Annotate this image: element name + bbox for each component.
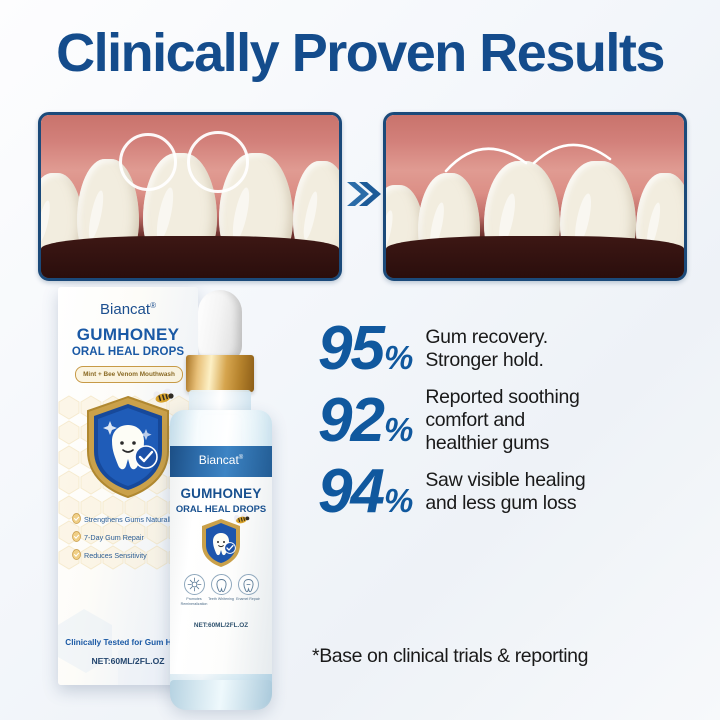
after-photo bbox=[383, 112, 687, 281]
enamel-repair-icon bbox=[238, 574, 259, 595]
stat-value: 95 bbox=[318, 318, 383, 380]
stat-item: 92 % Reported soothing comfort and healt… bbox=[318, 386, 718, 455]
stat-description: Reported soothing comfort and healthier … bbox=[425, 386, 579, 455]
check-badge-icon bbox=[72, 513, 81, 524]
check-badge-icon bbox=[72, 549, 81, 560]
box-feature-label: 7-Day Gum Repair bbox=[84, 533, 144, 542]
before-photo bbox=[38, 112, 342, 281]
stat-description: Saw visible healing and less gum loss bbox=[425, 469, 585, 515]
highlight-circle-icon bbox=[119, 133, 177, 191]
benefit-icon-item: Enamel Repair bbox=[231, 574, 265, 602]
label-brand: Biancat® bbox=[170, 453, 272, 467]
stat-description-line: and less gum loss bbox=[425, 492, 585, 515]
bottle-label: Biancat® GUMHONEY ORAL HEAL DROPS bbox=[170, 446, 272, 674]
stat-percentage: 92 % bbox=[318, 390, 413, 452]
box-feature: 7-Day Gum Repair bbox=[72, 531, 144, 542]
benefit-caption: Enamel Repair bbox=[231, 597, 265, 602]
stat-percentage: 95 % bbox=[318, 318, 413, 380]
dropper-gold-collar bbox=[186, 355, 254, 392]
percent-symbol: % bbox=[384, 413, 413, 446]
stat-item: 95 % Gum recovery. Stronger hold. bbox=[318, 318, 718, 380]
box-feature: Reduces Sensitivity bbox=[72, 549, 147, 560]
stat-description-line: Saw visible healing bbox=[425, 469, 585, 492]
product-bottle: Biancat® GUMHONEY ORAL HEAL DROPS bbox=[158, 282, 286, 718]
stat-description-line: Reported soothing bbox=[425, 386, 579, 409]
percent-symbol: % bbox=[384, 341, 413, 374]
stat-value: 94 bbox=[318, 461, 383, 523]
shield-tooth-icon bbox=[200, 518, 242, 568]
before-after-comparison bbox=[38, 112, 686, 277]
stat-item: 94 % Saw visible healing and less gum lo… bbox=[318, 461, 718, 523]
stat-description-line: healthier gums bbox=[425, 432, 579, 455]
stat-description-line: Gum recovery. bbox=[425, 326, 548, 349]
highlight-circle-icon bbox=[187, 131, 249, 193]
footnote: *Base on clinical trials & reporting bbox=[312, 645, 712, 668]
benefit-icons: Promotes Remineralization Teeth Whitenin… bbox=[170, 574, 272, 614]
gumline-arc-icon bbox=[442, 129, 622, 177]
double-chevron-right-icon bbox=[343, 174, 381, 214]
label-product-subtitle: ORAL HEAL DROPS bbox=[170, 503, 272, 514]
box-feature-label: Reduces Sensitivity bbox=[84, 551, 147, 560]
lower-lip bbox=[41, 236, 339, 278]
product-image: Biancat® GUMHONEY ORAL HEAL DROPS Mint +… bbox=[30, 282, 320, 720]
stat-percentage: 94 % bbox=[318, 461, 413, 523]
dropper-bulb bbox=[198, 290, 242, 362]
trademark-symbol: ® bbox=[150, 301, 156, 310]
stat-description-line: comfort and bbox=[425, 409, 579, 432]
label-brand-text: Biancat bbox=[199, 453, 239, 467]
page-title: Clinically Proven Results bbox=[0, 22, 720, 84]
stat-description-line: Stronger hold. bbox=[425, 349, 548, 372]
stat-description: Gum recovery. Stronger hold. bbox=[425, 326, 548, 372]
stat-value: 92 bbox=[318, 390, 383, 452]
trademark-symbol: ® bbox=[239, 455, 243, 461]
check-badge-icon bbox=[72, 531, 81, 542]
statistics-list: 95 % Gum recovery. Stronger hold. 92 % R… bbox=[318, 318, 718, 529]
box-brand-text: Biancat bbox=[100, 301, 150, 318]
lower-lip bbox=[386, 236, 684, 278]
percent-symbol: % bbox=[384, 484, 413, 517]
bottle-base bbox=[170, 680, 272, 710]
label-product-name: GUMHONEY bbox=[170, 486, 272, 501]
bee-icon bbox=[232, 512, 251, 525]
label-net-volume: NET:60ML/2FL.OZ bbox=[170, 622, 272, 629]
tooth-whitening-icon bbox=[211, 574, 232, 595]
remineralization-icon bbox=[184, 574, 205, 595]
